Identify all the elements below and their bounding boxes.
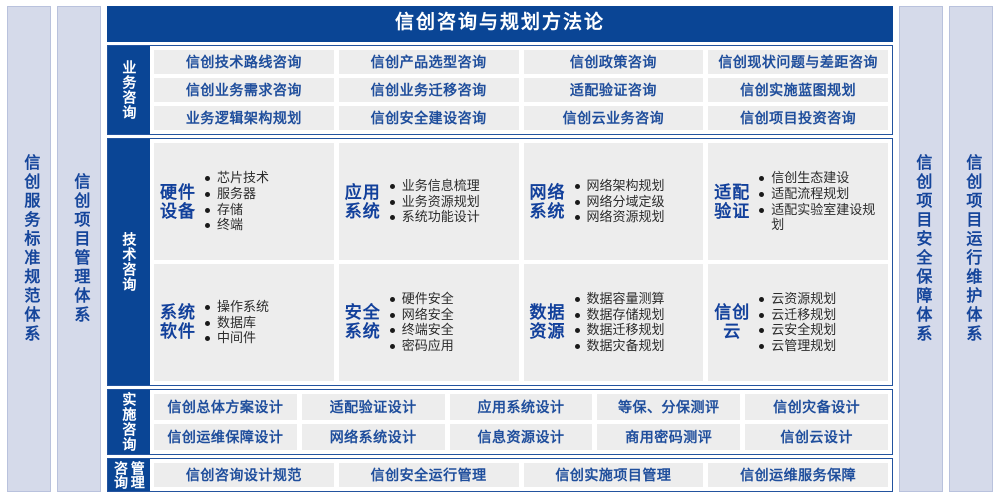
management-row-1: 信创咨询设计规范 信创安全运行管理 信创实施项目管理 信创运维服务保障: [154, 463, 888, 487]
tech-item: 业务信息梳理: [389, 178, 513, 194]
tech-item: 云管理规划: [758, 338, 882, 354]
business-cell[interactable]: 信创现状问题与差距咨询: [708, 50, 888, 74]
band-label-implementation: 实施咨询: [108, 390, 150, 454]
business-cell[interactable]: 信创云业务咨询: [524, 106, 704, 130]
tech-item: 数据灾备规划: [574, 338, 698, 354]
pillar-project-management-system: 信创项目管理体系: [57, 6, 101, 492]
implementation-row-1: 信创总体方案设计 适配验证设计 应用系统设计 等保、分保测评 信创灾备设计: [154, 394, 888, 420]
management-cell[interactable]: 信创实施项目管理: [524, 463, 704, 487]
tech-card-items: 云资源规划 云迁移规划 云安全规划 云管理规划: [758, 291, 882, 353]
band-label-business: 业务咨询: [108, 46, 150, 134]
implementation-cell[interactable]: 信创总体方案设计: [154, 394, 297, 420]
business-cell[interactable]: 信创技术路线咨询: [154, 50, 334, 74]
tech-item: 芯片技术: [204, 170, 328, 186]
tech-item: 云安全规划: [758, 322, 882, 338]
center-stack: 信创咨询与规划方法论 业务咨询 信创技术路线咨询 信创产品选型咨询 信创政策咨询…: [107, 6, 893, 492]
band-label-text-col2: 管理: [130, 461, 145, 489]
business-cell[interactable]: 信创业务需求咨询: [154, 78, 334, 102]
band-label-management: 咨询 管理: [108, 459, 150, 491]
tech-item: 信创生态建设: [758, 170, 882, 186]
band-label-text: 技术咨询: [122, 232, 137, 292]
tech-item: 系统功能设计: [389, 209, 513, 225]
business-cell[interactable]: 信创实施蓝图规划: [708, 78, 888, 102]
pillar-service-standard-system: 信创服务标准规范体系: [7, 6, 51, 492]
implementation-cell[interactable]: 信创灾备设计: [745, 394, 888, 420]
pillar-label: 信创项目管理体系: [71, 173, 88, 325]
tech-item: 存储: [204, 202, 328, 218]
tech-card-network[interactable]: 网络系统 网络架构规划 网络分域定级 网络资源规划: [524, 143, 704, 260]
implementation-cell[interactable]: 等保、分保测评: [597, 394, 740, 420]
business-row-3: 业务逻辑架构规划 信创安全建设咨询 信创云业务咨询 信创项目投资咨询: [154, 106, 888, 130]
tech-card-title: 安全系统: [345, 303, 381, 341]
tech-item: 适配实验室建设规划: [758, 202, 882, 233]
tech-item: 网络架构规划: [574, 178, 698, 194]
tech-item: 硬件安全: [389, 291, 513, 307]
band-technical-consulting: 技术咨询 硬件设备 芯片技术 服务器 存储 终端 应用系统: [107, 138, 893, 386]
tech-card-items: 业务信息梳理 业务资源规划 系统功能设计: [389, 178, 513, 225]
implementation-cell[interactable]: 信创云设计: [745, 424, 888, 450]
business-cell[interactable]: 业务逻辑架构规划: [154, 106, 334, 130]
band-implementation-consulting: 实施咨询 信创总体方案设计 适配验证设计 应用系统设计 等保、分保测评 信创灾备…: [107, 389, 893, 455]
band-label-text: 实施咨询: [122, 392, 137, 452]
implementation-cell[interactable]: 应用系统设计: [450, 394, 593, 420]
tech-card-title: 数据资源: [530, 303, 566, 341]
tech-item: 数据迁移规划: [574, 322, 698, 338]
band-body-implementation: 信创总体方案设计 适配验证设计 应用系统设计 等保、分保测评 信创灾备设计 信创…: [150, 390, 892, 454]
business-row-1: 信创技术路线咨询 信创产品选型咨询 信创政策咨询 信创现状问题与差距咨询: [154, 50, 888, 74]
pillar-label: 信创服务标准规范体系: [21, 154, 38, 344]
implementation-cell[interactable]: 适配验证设计: [302, 394, 445, 420]
tech-item: 服务器: [204, 186, 328, 202]
tech-card-items: 数据容量测算 数据存储规划 数据迁移规划 数据灾备规划: [574, 291, 698, 353]
business-cell[interactable]: 信创产品选型咨询: [339, 50, 519, 74]
pillar-project-security-system: 信创项目安全保障体系: [899, 6, 943, 492]
tech-card-system-software[interactable]: 系统软件 操作系统 数据库 中间件: [154, 264, 334, 381]
pillar-label: 信创项目运行维护体系: [963, 154, 980, 344]
band-label-technical: 技术咨询: [108, 139, 150, 385]
implementation-cell[interactable]: 网络系统设计: [302, 424, 445, 450]
tech-card-title: 应用系统: [345, 183, 381, 221]
pillar-project-operation-system: 信创项目运行维护体系: [949, 6, 993, 492]
band-business-consulting: 业务咨询 信创技术路线咨询 信创产品选型咨询 信创政策咨询 信创现状问题与差距咨…: [107, 45, 893, 135]
implementation-cell[interactable]: 信息资源设计: [450, 424, 593, 450]
tech-item: 业务资源规划: [389, 194, 513, 210]
tech-item: 终端: [204, 217, 328, 233]
technical-row-2: 系统软件 操作系统 数据库 中间件 安全系统 硬件安全 网络安全 终端安全: [154, 264, 888, 381]
tech-card-items: 芯片技术 服务器 存储 终端: [204, 170, 328, 232]
band-body-management: 信创咨询设计规范 信创安全运行管理 信创实施项目管理 信创运维服务保障: [150, 459, 892, 491]
tech-card-items: 硬件安全 网络安全 终端安全 密码应用: [389, 291, 513, 353]
band-label-text-col1: 咨询: [113, 461, 128, 489]
tech-card-cloud[interactable]: 信创云 云资源规划 云迁移规划 云安全规划 云管理规划: [708, 264, 888, 381]
tech-item: 云资源规划: [758, 291, 882, 307]
tech-item: 终端安全: [389, 322, 513, 338]
diagram-title: 信创咨询与规划方法论: [107, 6, 893, 42]
tech-item: 网络资源规划: [574, 209, 698, 225]
tech-card-adaptation[interactable]: 适配验证 信创生态建设 适配流程规划 适配实验室建设规划: [708, 143, 888, 260]
management-cell[interactable]: 信创咨询设计规范: [154, 463, 334, 487]
tech-item: 数据存储规划: [574, 307, 698, 323]
tech-item: 数据库: [204, 315, 328, 331]
tech-item: 云迁移规划: [758, 307, 882, 323]
tech-item: 适配流程规划: [758, 186, 882, 202]
business-cell[interactable]: 信创业务迁移咨询: [339, 78, 519, 102]
management-cell[interactable]: 信创安全运行管理: [339, 463, 519, 487]
tech-card-items: 网络架构规划 网络分域定级 网络资源规划: [574, 178, 698, 225]
business-cell[interactable]: 信创安全建设咨询: [339, 106, 519, 130]
tech-item: 网络分域定级: [574, 194, 698, 210]
pillar-label: 信创项目安全保障体系: [913, 154, 930, 344]
tech-card-title: 适配验证: [714, 183, 750, 221]
tech-item: 密码应用: [389, 338, 513, 354]
tech-card-security[interactable]: 安全系统 硬件安全 网络安全 终端安全 密码应用: [339, 264, 519, 381]
implementation-cell[interactable]: 商用密码测评: [597, 424, 740, 450]
tech-card-title: 硬件设备: [160, 183, 196, 221]
tech-card-title: 信创云: [714, 303, 750, 341]
tech-card-data-resource[interactable]: 数据资源 数据容量测算 数据存储规划 数据迁移规划 数据灾备规划: [524, 264, 704, 381]
tech-card-hardware[interactable]: 硬件设备 芯片技术 服务器 存储 终端: [154, 143, 334, 260]
tech-card-items: 操作系统 数据库 中间件: [204, 299, 328, 346]
tech-card-items: 信创生态建设 适配流程规划 适配实验室建设规划: [758, 170, 882, 232]
implementation-cell[interactable]: 信创运维保障设计: [154, 424, 297, 450]
management-cell[interactable]: 信创运维服务保障: [708, 463, 888, 487]
business-cell[interactable]: 适配验证咨询: [524, 78, 704, 102]
band-consulting-management: 咨询 管理 信创咨询设计规范 信创安全运行管理 信创实施项目管理 信创运维服务保…: [107, 458, 893, 492]
tech-card-application[interactable]: 应用系统 业务信息梳理 业务资源规划 系统功能设计: [339, 143, 519, 260]
business-cell[interactable]: 信创项目投资咨询: [708, 106, 888, 130]
diagram-root: 信创服务标准规范体系 信创项目管理体系 信创咨询与规划方法论 业务咨询 信创技术…: [0, 0, 1000, 496]
tech-item: 网络安全: [389, 307, 513, 323]
band-label-text: 业务咨询: [122, 60, 137, 120]
tech-item: 数据容量测算: [574, 291, 698, 307]
business-row-2: 信创业务需求咨询 信创业务迁移咨询 适配验证咨询 信创实施蓝图规划: [154, 78, 888, 102]
band-body-technical: 硬件设备 芯片技术 服务器 存储 终端 应用系统 业务信息梳理 业务资源规划: [150, 139, 892, 385]
tech-card-title: 系统软件: [160, 303, 196, 341]
band-body-business: 信创技术路线咨询 信创产品选型咨询 信创政策咨询 信创现状问题与差距咨询 信创业…: [150, 46, 892, 134]
tech-item: 操作系统: [204, 299, 328, 315]
implementation-row-2: 信创运维保障设计 网络系统设计 信息资源设计 商用密码测评 信创云设计: [154, 424, 888, 450]
tech-card-title: 网络系统: [530, 183, 566, 221]
tech-item: 中间件: [204, 330, 328, 346]
technical-row-1: 硬件设备 芯片技术 服务器 存储 终端 应用系统 业务信息梳理 业务资源规划: [154, 143, 888, 260]
business-cell[interactable]: 信创政策咨询: [524, 50, 704, 74]
